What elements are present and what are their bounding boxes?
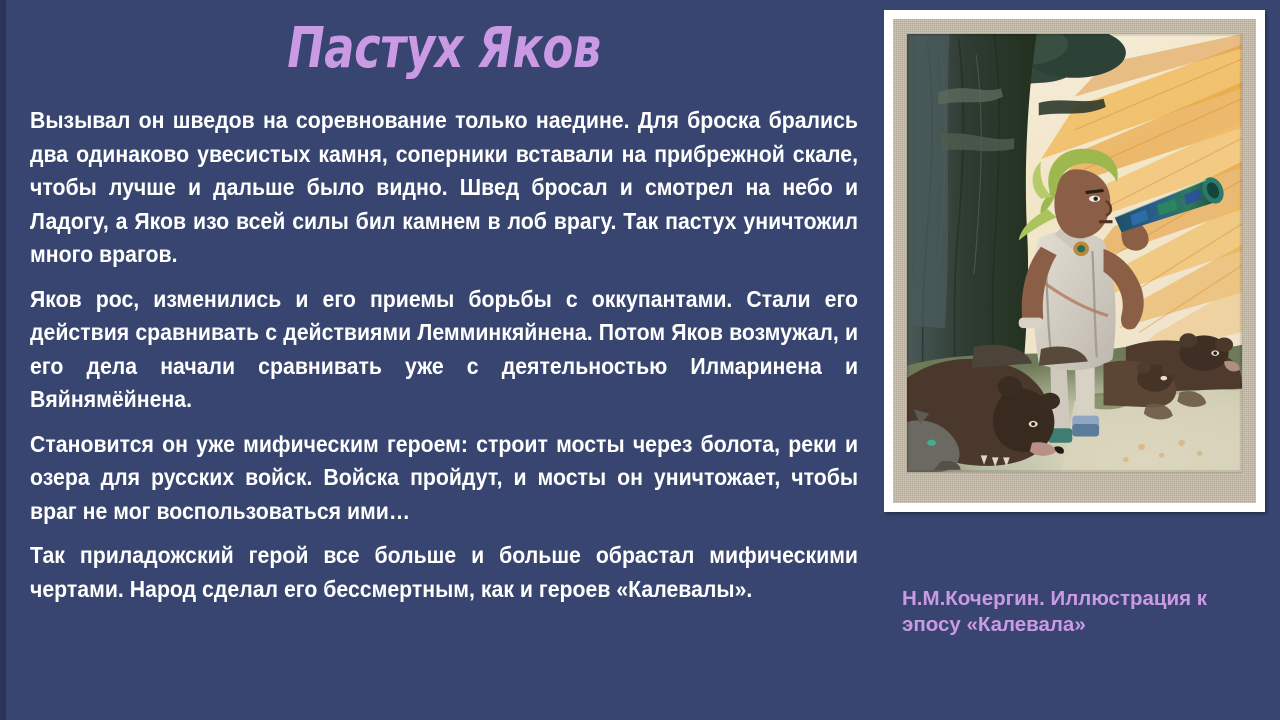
left-edge-stripe <box>0 0 6 720</box>
paragraph: Так приладожский герой все больше и боль… <box>30 539 858 606</box>
paragraph: Яков рос, изменились и его приемы борьбы… <box>30 283 858 417</box>
presentation-slide: Пастух Яков Вызывал он шведов на соревно… <box>0 0 1280 720</box>
illustration-image <box>906 33 1243 473</box>
body-text-block: Вызывал он шведов на соревнование только… <box>30 104 858 606</box>
page-title: Пастух Яков <box>113 18 775 80</box>
picture-caption: Н.М.Кочергин. Иллюстрация к эпосу «Калев… <box>902 586 1252 638</box>
paragraph: Вызывал он шведов на соревнование только… <box>30 104 858 272</box>
picture-mat <box>893 19 1256 503</box>
paragraph: Становится он уже мифическим героем: стр… <box>30 428 858 529</box>
picture-frame <box>884 10 1265 512</box>
